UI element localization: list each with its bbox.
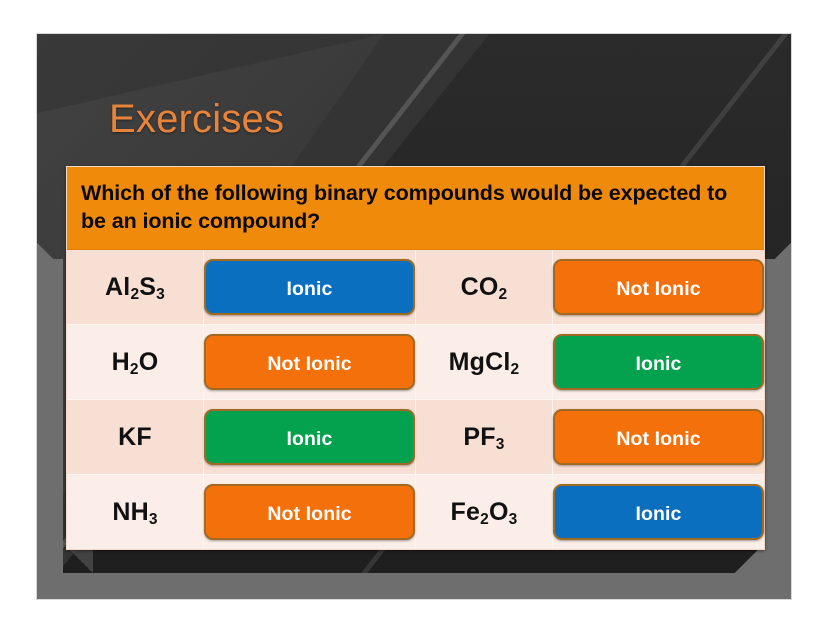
formula-cell-co2: CO2 (415, 250, 552, 325)
answer-cell-pf3: Not Ionic (553, 400, 765, 475)
formula-cell-fe2o3: Fe2O3 (415, 475, 552, 550)
formula-cell-pf3: PF3 (415, 400, 552, 475)
table-row: KF Ionic PF3 Not Ionic (67, 400, 764, 475)
formula-label: PF3 (463, 423, 504, 451)
answer-button[interactable]: Not Ionic (553, 259, 764, 315)
answer-button[interactable]: Not Ionic (204, 334, 415, 390)
answer-cell-co2: Not Ionic (553, 250, 765, 325)
slide-title: Exercises (109, 97, 284, 142)
formula-cell-h2o: H2O (67, 325, 204, 400)
formula-label: MgCl2 (449, 348, 520, 376)
exercise-panel: Which of the following binary compounds … (66, 166, 765, 550)
formula-label: Al2S3 (105, 273, 165, 301)
table-row: H2O Not Ionic MgCl2 Ionic (67, 325, 764, 400)
answer-button[interactable]: Ionic (553, 334, 764, 390)
answer-cell-fe2o3: Ionic (553, 475, 765, 550)
formula-label: KF (118, 423, 152, 451)
answer-button[interactable]: Not Ionic (553, 409, 764, 465)
exercise-table: Al2S3 Ionic CO2 Not Ionic (67, 250, 764, 549)
formula-label: Fe2O3 (451, 498, 518, 526)
table-row: Al2S3 Ionic CO2 Not Ionic (67, 250, 764, 325)
question-prompt: Which of the following binary compounds … (67, 167, 764, 250)
formula-cell-nh3: NH3 (67, 475, 204, 550)
formula-label: CO2 (461, 273, 508, 301)
answer-cell-al2s3: Ionic (204, 250, 416, 325)
table-row: NH3 Not Ionic Fe2O3 Ionic (67, 475, 764, 550)
formula-cell-kf: KF (67, 400, 204, 475)
page-canvas: Exercises Which of the following binary … (0, 0, 828, 640)
formula-label: NH3 (112, 498, 157, 526)
answer-button[interactable]: Ionic (204, 409, 415, 465)
answer-cell-nh3: Not Ionic (204, 475, 416, 550)
formula-cell-al2s3: Al2S3 (67, 250, 204, 325)
presentation-slide: Exercises Which of the following binary … (37, 34, 791, 599)
answer-cell-h2o: Not Ionic (204, 325, 416, 400)
formula-cell-mgcl2: MgCl2 (415, 325, 552, 400)
formula-label: H2O (112, 348, 159, 376)
exercise-table-body: Al2S3 Ionic CO2 Not Ionic (67, 250, 764, 549)
answer-button[interactable]: Ionic (204, 259, 415, 315)
answer-button[interactable]: Ionic (553, 484, 764, 540)
answer-button[interactable]: Not Ionic (204, 484, 415, 540)
answer-cell-mgcl2: Ionic (553, 325, 765, 400)
answer-cell-kf: Ionic (204, 400, 416, 475)
